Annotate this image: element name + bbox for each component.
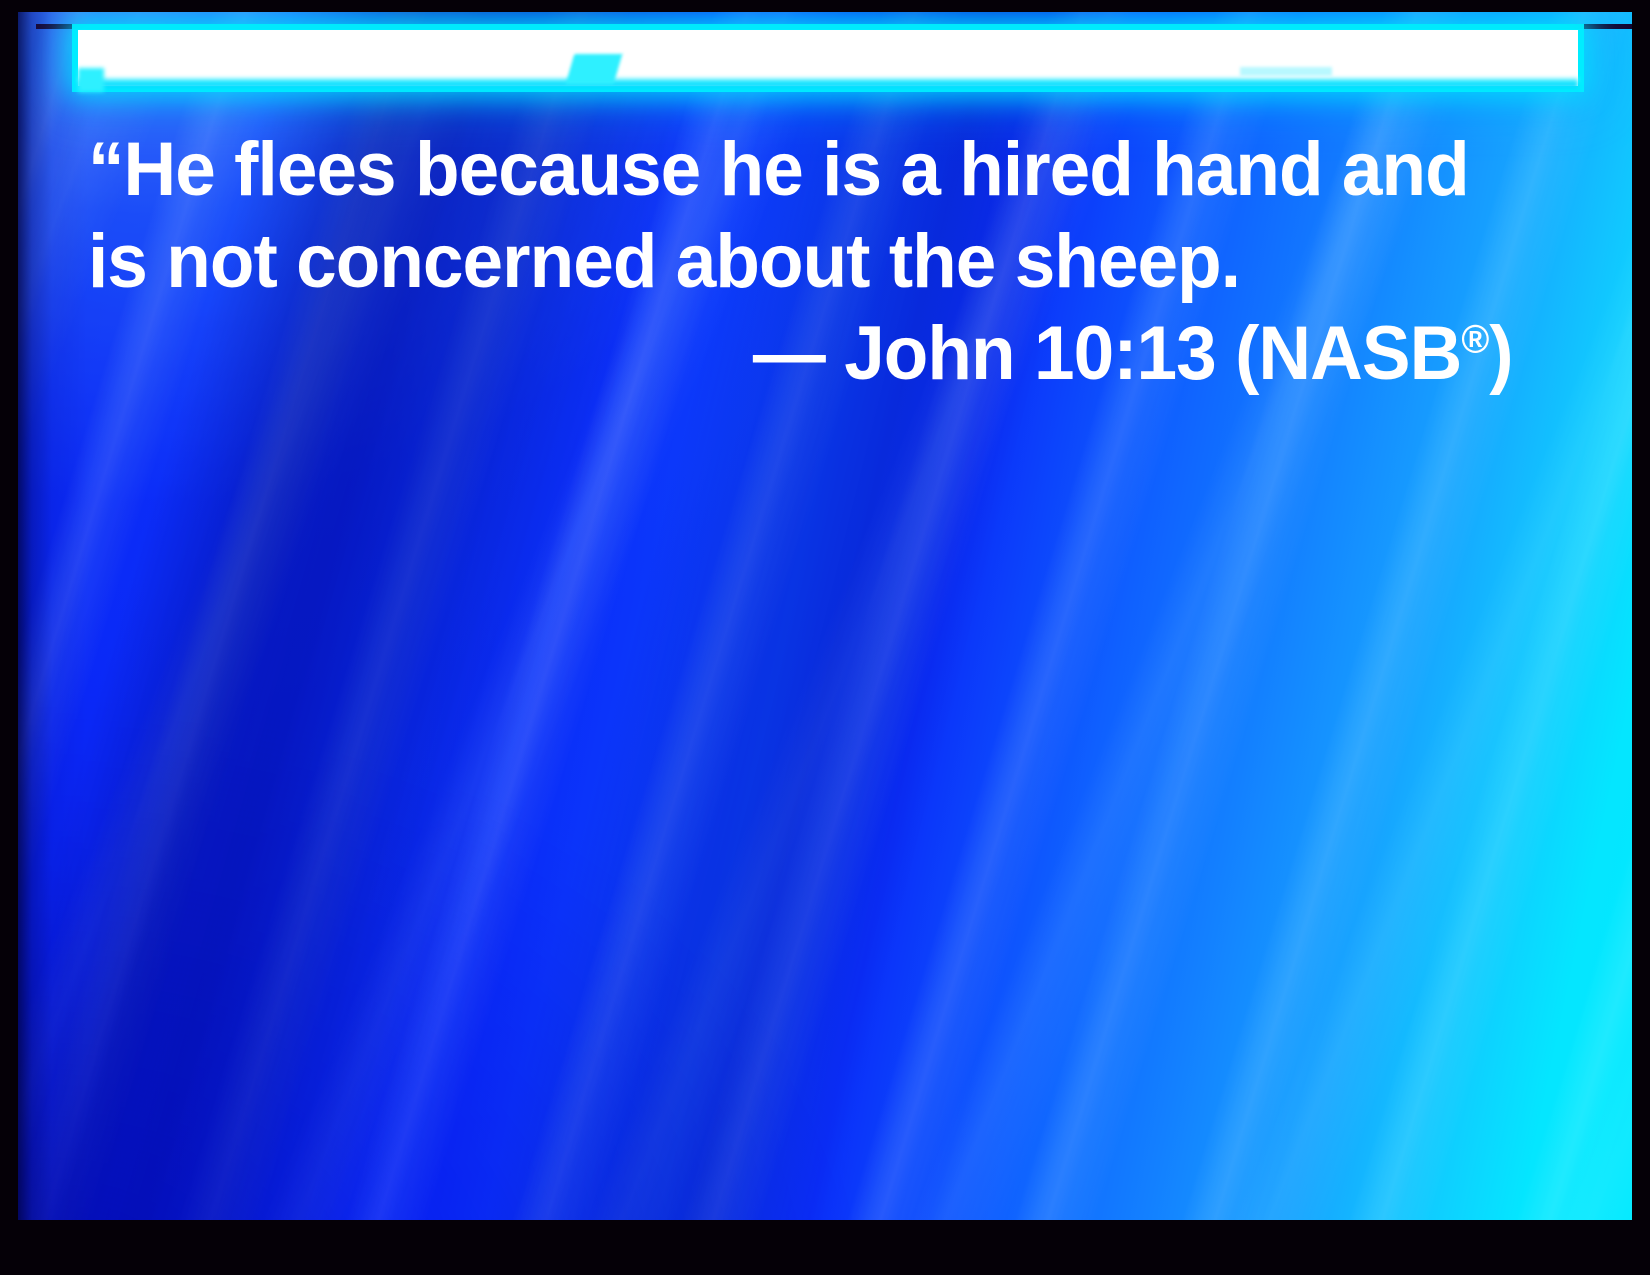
- top-dark-edge-line: [36, 24, 1632, 29]
- top-band-cyan-notch: [566, 54, 623, 84]
- verse-attribution: — John 10:13 (NASB®): [88, 308, 1518, 400]
- top-band-cyan-edge: [78, 78, 1578, 88]
- registered-trademark-icon: ®: [1461, 318, 1489, 362]
- verse-line-1: “He flees because he is a hired hand and: [88, 124, 1518, 216]
- attribution-em-dash: —: [753, 311, 825, 396]
- verse-text-block: “He flees because he is a hired hand and…: [88, 124, 1518, 400]
- attribution-open-paren: (: [1235, 311, 1258, 396]
- attribution-reference: 10:13: [1034, 311, 1216, 396]
- attribution-translation: NASB: [1258, 311, 1461, 396]
- top-band-left-wedge: [78, 68, 104, 92]
- verse-line-2: is not concerned about the sheep.: [88, 216, 1518, 308]
- attribution-book: John: [844, 311, 1014, 396]
- slide-artboard: “He flees because he is a hired hand and…: [18, 12, 1632, 1220]
- top-white-band-core: [104, 32, 1556, 76]
- top-band-cyan-streak: [1240, 67, 1332, 76]
- verse-slide: “He flees because he is a hired hand and…: [0, 0, 1650, 1275]
- attribution-close-paren: ): [1489, 311, 1512, 396]
